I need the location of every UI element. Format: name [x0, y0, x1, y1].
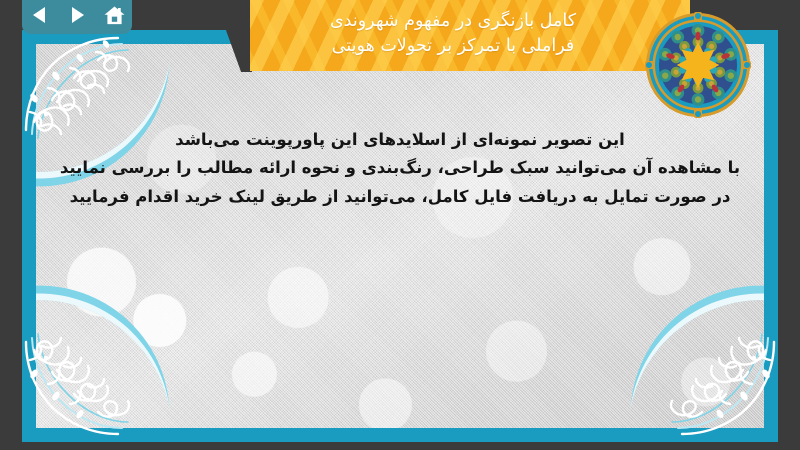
slide-viewer: این تصویر نمونه‌ای از اسلایدهای این پاور… — [0, 0, 800, 450]
next-slide-button[interactable] — [64, 2, 90, 28]
body-line-2: با مشاهده آن می‌توانید سبک طراحی، رنگ‌بن… — [48, 154, 752, 182]
corner-sweep-bottom-right — [573, 245, 764, 428]
home-icon — [103, 4, 126, 27]
left-triangle-icon — [29, 4, 51, 26]
persian-mandala-medallion-icon — [645, 12, 751, 118]
slide-body-text: این تصویر نمونه‌ای از اسلایدهای این پاور… — [22, 126, 778, 211]
right-triangle-icon — [66, 4, 88, 26]
body-line-1: این تصویر نمونه‌ای از اسلایدهای این پاور… — [48, 126, 752, 154]
home-button[interactable] — [101, 2, 127, 28]
page-title: کامل بازنگری در مفهوم شهروندی فراملی با … — [330, 9, 576, 59]
navigation-bar — [22, 0, 132, 34]
corner-sweep-bottom-left — [36, 245, 227, 428]
title-banner: کامل بازنگری در مفهوم شهروندی فراملی با … — [250, 0, 690, 71]
body-line-3: در صورت تمایل به دریافت فایل کامل، می‌تو… — [48, 183, 752, 211]
previous-slide-button[interactable] — [27, 2, 53, 28]
